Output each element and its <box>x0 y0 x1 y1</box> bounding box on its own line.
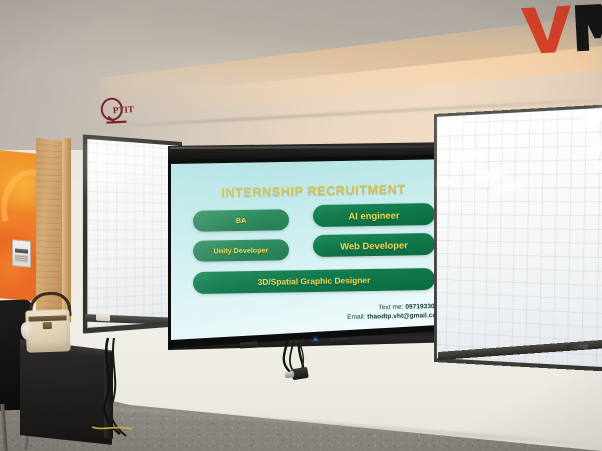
ceiling-light-reflection <box>451 149 482 164</box>
room-photo: PTIT INTERNSHIP RECRUITMENT BA AI engine… <box>0 0 602 451</box>
contact-email-line: Email: thaodtp.vht@gmail.com <box>347 312 442 323</box>
svg-text:PTIT: PTIT <box>113 104 135 115</box>
ceiling-light-reflection <box>590 138 602 154</box>
right-whiteboard[interactable] <box>434 104 602 372</box>
left-whiteboard-glare <box>89 144 161 190</box>
ceiling-light-reflection <box>494 182 522 193</box>
role-pill-ba: BA <box>193 209 289 232</box>
ceiling-light-reflection <box>439 118 464 132</box>
contact-email-value: thaodtp.vht@gmail.com <box>367 312 442 321</box>
role-pill-web-developer: Web Developer <box>313 233 435 257</box>
wall-cable-bundle <box>96 338 132 438</box>
right-whiteboard-reflections <box>434 104 602 372</box>
slide-title: INTERNSHIP RECRUITMENT <box>171 181 456 200</box>
vm-logo <box>519 0 602 56</box>
ceiling-light-reflection <box>438 178 452 186</box>
role-pill-ai-engineer: AI engineer <box>313 203 435 227</box>
screen-mount-block <box>240 342 258 349</box>
role-pill-3d-spatial-graphic-designer: 3D/Spatial Graphic Designer <box>193 268 435 294</box>
ceiling-light-reflection <box>583 105 602 126</box>
wall-light-switch[interactable] <box>12 239 31 268</box>
projector-screen[interactable]: INTERNSHIP RECRUITMENT BA AI engineer Un… <box>168 142 460 357</box>
hanging-cables <box>268 340 338 388</box>
contact-email-label: Email: <box>347 314 365 321</box>
ptit-logo: PTIT <box>97 95 137 131</box>
slide-contact-block: Text me: 0971933000 Email: thaodtp.vht@g… <box>347 303 442 323</box>
screen-display-area: INTERNSHIP RECRUITMENT BA AI engineer Un… <box>171 158 456 340</box>
ceiling-light-reflection <box>596 158 602 171</box>
floor-cable <box>92 424 132 432</box>
whiteboard-eraser[interactable] <box>96 312 110 322</box>
presentation-slide: INTERNSHIP RECRUITMENT BA AI engineer Un… <box>171 158 456 340</box>
role-pill-unity-developer: Unity Developer <box>193 239 289 262</box>
contact-phone-label: Text me: <box>378 304 403 312</box>
ceiling-light-reflection <box>475 169 504 182</box>
